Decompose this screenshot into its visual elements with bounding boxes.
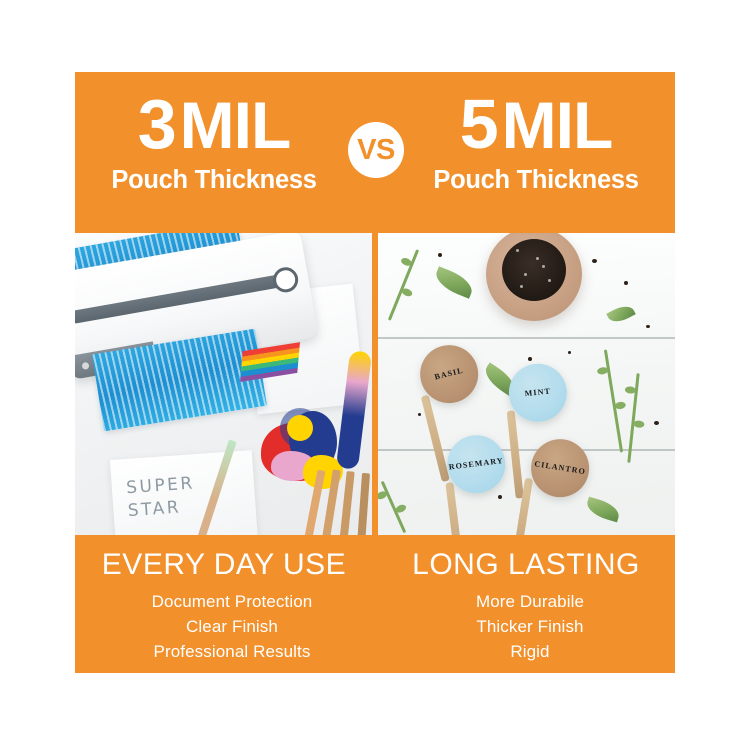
mil-unit-left: MIL (180, 88, 291, 162)
benefits-title-right: LONG LASTING (381, 535, 671, 583)
super-star-note-text: SUPER STAR (126, 469, 249, 523)
potting-soil (502, 239, 566, 301)
photo-band: Scotch SUPER STAR (75, 233, 675, 535)
scattered-soil-speck (568, 351, 571, 354)
soil-fleck (536, 257, 539, 260)
scattered-soil-speck (528, 357, 532, 361)
mil-unit-right: MIL (502, 88, 613, 162)
mil-value-right: 5 (460, 85, 498, 163)
power-indicator-icon (81, 362, 89, 370)
versus-badge-label: VS (357, 136, 395, 165)
comparison-infographic: 3MIL Pouch Thickness VS 5MIL Pouch Thick… (75, 72, 675, 673)
benefit-item: Clear Finish (95, 614, 369, 639)
soil-fleck (520, 285, 523, 288)
scattered-soil-speck (418, 413, 421, 416)
soil-fleck (516, 249, 519, 252)
marker-label: MINT (524, 386, 551, 399)
scattered-soil-speck (592, 259, 597, 263)
scattered-soil-speck (498, 495, 502, 499)
laminator-feed-slot (75, 272, 295, 324)
header-column-5mil: 5MIL Pouch Thickness (405, 72, 667, 233)
marker-label: CILANTRO (534, 459, 587, 477)
benefits-column-long-lasting: LONG LASTING More Durabile Thicker Finis… (381, 535, 671, 664)
marker-label: BASIL (434, 366, 465, 383)
benefits-column-everyday-use: EVERY DAY USE Document Protection Clear … (79, 535, 369, 664)
marker-label: ROSEMARY (448, 456, 504, 473)
benefit-item: Professional Results (95, 639, 369, 664)
benefits-title-left: EVERY DAY USE (79, 535, 369, 583)
mil-heading-right: 5MIL (405, 72, 667, 161)
photo-herb-markers-long-lasting: BASIL MINT ROSEMARY CILANTRO (378, 233, 675, 535)
laminator-release-knob (271, 265, 300, 294)
benefit-item: Thicker Finish (389, 614, 671, 639)
header-column-3mil: 3MIL Pouch Thickness (83, 72, 345, 233)
soil-fleck (548, 279, 551, 282)
scattered-soil-speck (438, 253, 442, 257)
benefit-item: Rigid (389, 639, 671, 664)
photo-laminator-everyday-use: Scotch SUPER STAR (75, 233, 372, 535)
benefits-list-right: More Durabile Thicker Finish Rigid (381, 583, 671, 664)
benefit-item: Document Protection (95, 589, 369, 614)
mil-value-left: 3 (138, 85, 176, 163)
mil-heading-left: 3MIL (83, 72, 345, 161)
plank-seam-upper (378, 337, 675, 339)
scattered-soil-speck (624, 281, 628, 285)
footer-benefits-band: EVERY DAY USE Document Protection Clear … (75, 535, 675, 673)
benefits-list-left: Document Protection Clear Finish Profess… (79, 583, 369, 664)
scattered-soil-speck (654, 421, 659, 425)
painted-sun (287, 415, 313, 441)
scattered-soil-speck (646, 325, 650, 328)
soil-fleck (524, 273, 527, 276)
header-comparison-band: 3MIL Pouch Thickness VS 5MIL Pouch Thick… (75, 72, 675, 233)
pouch-thickness-label-right: Pouch Thickness (405, 161, 667, 195)
pouch-thickness-label-left: Pouch Thickness (83, 161, 345, 195)
versus-badge: VS (348, 122, 404, 178)
soil-fleck (542, 265, 545, 268)
benefit-item: More Durabile (389, 589, 671, 614)
